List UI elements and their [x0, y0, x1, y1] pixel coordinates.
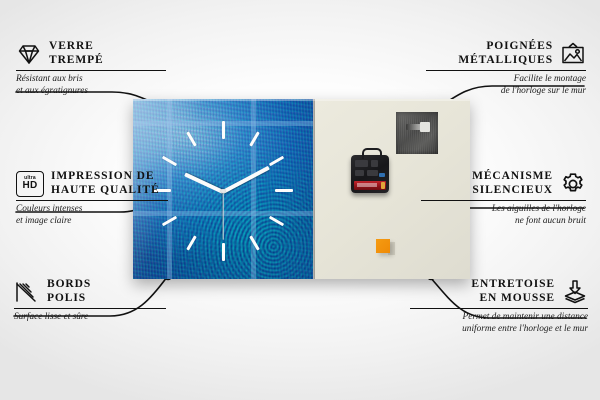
feature-bords-polis: BORDS POLIS Surface lisse et sûre: [14, 278, 166, 324]
battery: [354, 181, 386, 190]
product-image: [133, 99, 470, 279]
feature-title-line2: HAUTE QUALITÉ: [51, 184, 160, 198]
wall-frame-hanger-icon: [560, 41, 586, 67]
mechanism-detail-1: [355, 160, 368, 167]
mechanism-detail-3: [355, 170, 364, 176]
feature-title-line2: TREMPÉ: [49, 54, 104, 68]
mechanism-detail-5: [379, 173, 385, 177]
feature-title-line2: POLIS: [47, 292, 91, 306]
feature-title-line2: SILENCIEUX: [472, 184, 553, 198]
feature-title-line2: EN MOUSSE: [471, 292, 555, 306]
battery-terminal: [381, 182, 385, 189]
feature-title-line2: MÉTALLIQUES: [458, 54, 553, 68]
feature-title-line1: ENTRETOISE: [471, 278, 555, 292]
mechanism-hook: [362, 148, 382, 159]
feature-header: POIGNÉES MÉTALLIQUES: [426, 40, 586, 67]
metal-hanger-plate: [396, 112, 438, 154]
clock-tick-6: [222, 243, 225, 261]
ultra-hd-badge-icon: ultra HD: [16, 171, 44, 197]
polished-edge-icon: [14, 279, 40, 305]
clock-tick-3: [275, 189, 293, 192]
feature-poignees-metalliques: POIGNÉES MÉTALLIQUES Facilite le montage…: [426, 40, 586, 97]
mechanism-detail-2: [371, 160, 378, 167]
feature-desc-line1: Facilite le montage: [426, 74, 586, 86]
feature-title-line1: MÉCANISME: [472, 170, 553, 184]
badge-hd-text: HD: [22, 181, 37, 191]
mechanism-detail-4: [367, 170, 378, 176]
feature-desc-line2: ne font aucun bruit: [421, 216, 586, 228]
feature-rule: [16, 70, 166, 71]
feature-title-line1: VERRE: [49, 40, 104, 54]
feature-rule: [421, 200, 586, 201]
diamond-icon: [16, 41, 42, 67]
feature-desc-line1: Permet de maintenir une distance: [410, 312, 588, 324]
feature-header: BORDS POLIS: [14, 278, 166, 305]
feature-entretoise-mousse: ENTRETOISE EN MOUSSE Permet de maintenir…: [410, 278, 588, 335]
feature-rule: [16, 200, 168, 201]
feature-header: ultra HD IMPRESSION DE HAUTE QUALITÉ: [16, 170, 168, 197]
feature-desc-line1: Les aiguilles de l'horloge: [421, 204, 586, 216]
panel-seam: [313, 99, 315, 279]
feature-desc-line1: Surface lisse et sûre: [14, 312, 166, 324]
feature-desc-line1: Couleurs intenses: [16, 204, 168, 216]
feature-rule: [410, 308, 588, 309]
feature-verre-trempe: VERRE TREMPÉ Résistant aux bris et aux é…: [16, 40, 166, 97]
feature-header: VERRE TREMPÉ: [16, 40, 166, 67]
battery-label: [357, 183, 377, 187]
feature-rule: [426, 70, 586, 71]
feature-header: ENTRETOISE EN MOUSSE: [410, 278, 588, 305]
feature-title-line1: BORDS: [47, 278, 91, 292]
clock-mechanism: [351, 155, 389, 193]
feature-header: MÉCANISME SILENCIEUX: [421, 170, 586, 197]
clock-hub: [221, 189, 225, 193]
feature-rule: [14, 308, 166, 309]
feature-title-line1: POIGNÉES: [458, 40, 553, 54]
feature-desc-line2: et aux égratignures: [16, 86, 166, 98]
foam-spacer-arrow-icon: [562, 279, 588, 305]
feature-desc-line2: uniforme entre l'horloge et le mur: [410, 324, 588, 336]
feature-desc-line2: de l'horloge sur le mur: [426, 86, 586, 98]
feature-desc-line1: Résistant aux bris: [16, 74, 166, 86]
feature-title-line1: IMPRESSION DE: [51, 170, 160, 184]
gear-icon: [560, 171, 586, 197]
feature-impression-hd: ultra HD IMPRESSION DE HAUTE QUALITÉ Cou…: [16, 170, 168, 227]
feature-desc-line2: et image claire: [16, 216, 168, 228]
clock-second-hand: [222, 192, 223, 240]
foam-spacer: [376, 239, 390, 253]
feature-mecanisme-silencieux: MÉCANISME SILENCIEUX Les aiguilles de l'…: [421, 170, 586, 227]
clock-tick-12: [222, 121, 225, 139]
infographic-stage: VERRE TREMPÉ Résistant aux bris et aux é…: [0, 0, 600, 400]
hanger-hole: [420, 122, 430, 132]
panel-top-edge: [133, 99, 470, 101]
